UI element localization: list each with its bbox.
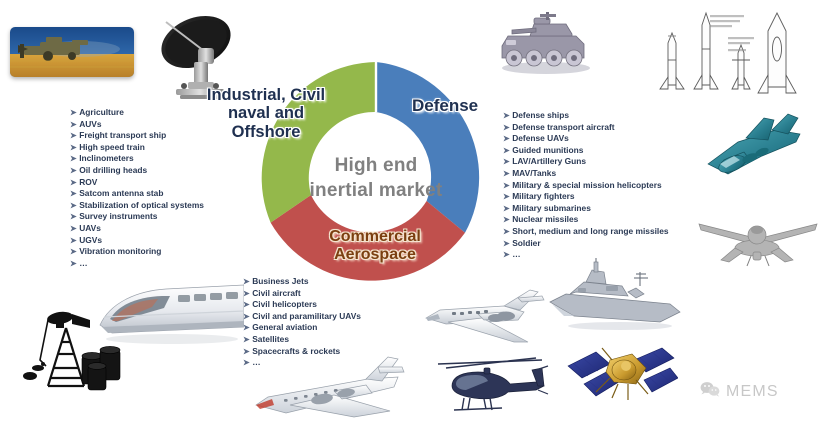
list-item-label: MAV/Tanks [512, 168, 556, 180]
list-item: ➤Soldier [503, 238, 669, 250]
bullet-arrow-icon: ➤ [70, 188, 77, 200]
list-item-label: Defense UAVs [512, 133, 569, 145]
list-item: ➤Military fighters [503, 191, 669, 203]
armored-vehicle-image [490, 6, 598, 78]
list-item: ➤Defense UAVs [503, 133, 669, 145]
bullet-arrow-icon: ➤ [503, 133, 510, 145]
list-item: ➤UAVs [70, 223, 204, 235]
bullet-arrow-icon: ➤ [70, 177, 77, 189]
list-item: ➤Military submarines [503, 203, 669, 215]
list-item-label: Agriculture [79, 107, 124, 119]
bullet-arrow-icon: ➤ [243, 311, 250, 323]
list-item-label: High speed train [79, 142, 145, 154]
high-speed-train-image [94, 281, 244, 351]
bullet-arrow-icon: ➤ [503, 249, 510, 261]
satellite-image [566, 330, 678, 414]
fighter-jet-image [688, 108, 818, 190]
list-item-label: ROV [79, 177, 97, 189]
list-item-label: LAV/Artillery Guns [512, 156, 586, 168]
list-item: ➤Nuclear missiles [503, 214, 669, 226]
list-item: ➤Business Jets [243, 276, 361, 288]
bullet-arrow-icon: ➤ [503, 191, 510, 203]
bullet-arrow-icon: ➤ [70, 119, 77, 131]
bullet-arrow-icon: ➤ [503, 168, 510, 180]
list-item-label: Vibration monitoring [79, 246, 161, 258]
list-item: ➤Vibration monitoring [70, 246, 204, 258]
bullet-arrow-icon: ➤ [70, 130, 77, 142]
bullet-arrow-icon: ➤ [70, 153, 77, 165]
list-item-label: Civil helicopters [252, 299, 317, 311]
bullet-arrow-icon: ➤ [70, 246, 77, 258]
agriculture-harvester-photo [10, 27, 134, 77]
list-item-label: … [512, 249, 520, 261]
bullet-arrow-icon: ➤ [243, 346, 250, 358]
bullet-arrow-icon: ➤ [70, 258, 77, 270]
list-item: ➤Inclinometers [70, 153, 204, 165]
list-item: ➤… [70, 258, 204, 270]
list-item: ➤Agriculture [70, 107, 204, 119]
list-item: ➤LAV/Artillery Guns [503, 156, 669, 168]
bullet-list-commercial: ➤Business Jets➤Civil aircraft➤Civil heli… [243, 276, 361, 369]
list-item-label: Freight transport ship [79, 130, 166, 142]
bullet-arrow-icon: ➤ [70, 223, 77, 235]
segment-label-industrial: Industrial, Civil naval and Offshore [196, 86, 336, 141]
list-item: ➤Short, medium and long range missiles [503, 226, 669, 238]
list-item-label: Satellites [252, 334, 289, 346]
list-item-label: Stabilization of optical systems [79, 200, 204, 212]
missile-comparison-diagram [650, 5, 814, 105]
bullet-arrow-icon: ➤ [70, 211, 77, 223]
wechat-icon [700, 381, 720, 402]
list-item: ➤Civil and paramilitary UAVs [243, 311, 361, 323]
list-item-label: UGVs [79, 235, 102, 247]
bullet-arrow-icon: ➤ [503, 180, 510, 192]
bullet-arrow-icon: ➤ [503, 203, 510, 215]
list-item: ➤… [503, 249, 669, 261]
list-item-label: AUVs [79, 119, 101, 131]
helicopter-image [424, 352, 556, 422]
slide-canvas: High end inertial market Industrial, Civ… [0, 0, 822, 422]
bullet-arrow-icon: ➤ [503, 214, 510, 226]
list-item: ➤Guided munitions [503, 145, 669, 157]
bullet-arrow-icon: ➤ [243, 357, 250, 369]
bullet-arrow-icon: ➤ [503, 122, 510, 134]
list-item-label: Soldier [512, 238, 540, 250]
list-item-label: Military fighters [512, 191, 574, 203]
bullet-arrow-icon: ➤ [503, 226, 510, 238]
list-item: ➤Civil aircraft [243, 288, 361, 300]
bullet-arrow-icon: ➤ [243, 334, 250, 346]
list-item-label: Military & special mission helicopters [512, 180, 661, 192]
list-item: ➤UGVs [70, 235, 204, 247]
list-item-label: Oil drilling heads [79, 165, 147, 177]
list-item: ➤Oil drilling heads [70, 165, 204, 177]
list-item-label: Defense ships [512, 110, 569, 122]
list-item: ➤High speed train [70, 142, 204, 154]
bullet-arrow-icon: ➤ [70, 235, 77, 247]
watermark: MEMS [700, 381, 779, 402]
list-item-label: Civil and paramilitary UAVs [252, 311, 361, 323]
list-item: ➤Defense ships [503, 110, 669, 122]
list-item-label: Defense transport aircraft [512, 122, 614, 134]
bullet-arrow-icon: ➤ [503, 156, 510, 168]
watermark-text: MEMS [726, 383, 779, 401]
list-item-label: Satcom antenna stab [79, 188, 163, 200]
list-item: ➤… [243, 357, 361, 369]
bullet-arrow-icon: ➤ [243, 299, 250, 311]
bullet-list-defense: ➤Defense ships➤Defense transport aircraf… [503, 110, 669, 261]
list-item-label: Business Jets [252, 276, 308, 288]
bullet-arrow-icon: ➤ [70, 200, 77, 212]
list-item: ➤Survey instruments [70, 211, 204, 223]
list-item: ➤AUVs [70, 119, 204, 131]
bullet-arrow-icon: ➤ [70, 165, 77, 177]
list-item-label: Guided munitions [512, 145, 583, 157]
list-item: ➤Defense transport aircraft [503, 122, 669, 134]
bullet-arrow-icon: ➤ [243, 276, 250, 288]
list-item: ➤Satcom antenna stab [70, 188, 204, 200]
bullet-arrow-icon: ➤ [243, 322, 250, 334]
list-item: ➤Stabilization of optical systems [70, 200, 204, 212]
list-item: ➤General aviation [243, 322, 361, 334]
bullet-arrow-icon: ➤ [70, 142, 77, 154]
list-item-label: UAVs [79, 223, 101, 235]
segment-label-defense: Defense [412, 96, 512, 115]
bullet-arrow-icon: ➤ [503, 110, 510, 122]
bullet-arrow-icon: ➤ [503, 238, 510, 250]
list-item-label: … [79, 258, 87, 270]
list-item: ➤Spacecrafts & rockets [243, 346, 361, 358]
bullet-arrow-icon: ➤ [243, 288, 250, 300]
list-item-label: Nuclear missiles [512, 214, 578, 226]
list-item: ➤MAV/Tanks [503, 168, 669, 180]
list-item-label: Military submarines [512, 203, 591, 215]
list-item-label: General aviation [252, 322, 317, 334]
bullet-arrow-icon: ➤ [70, 107, 77, 119]
list-item: ➤ROV [70, 177, 204, 189]
bullet-arrow-icon: ➤ [503, 145, 510, 157]
list-item: ➤Freight transport ship [70, 130, 204, 142]
bullet-list-industrial: ➤Agriculture➤AUVs➤Freight transport ship… [70, 107, 204, 269]
warship-image [540, 258, 690, 334]
military-uav-image [695, 208, 821, 274]
list-item-label: Inclinometers [79, 153, 133, 165]
list-item-label: … [252, 357, 260, 369]
list-item: ➤Satellites [243, 334, 361, 346]
list-item-label: Spacecrafts & rockets [252, 346, 340, 358]
list-item-label: Short, medium and long range missiles [512, 226, 668, 238]
list-item: ➤Civil helicopters [243, 299, 361, 311]
segment-label-commercial: Commercial Aerospace [312, 228, 438, 264]
list-item-label: Civil aircraft [252, 288, 300, 300]
list-item: ➤Military & special mission helicopters [503, 180, 669, 192]
list-item-label: Survey instruments [79, 211, 157, 223]
